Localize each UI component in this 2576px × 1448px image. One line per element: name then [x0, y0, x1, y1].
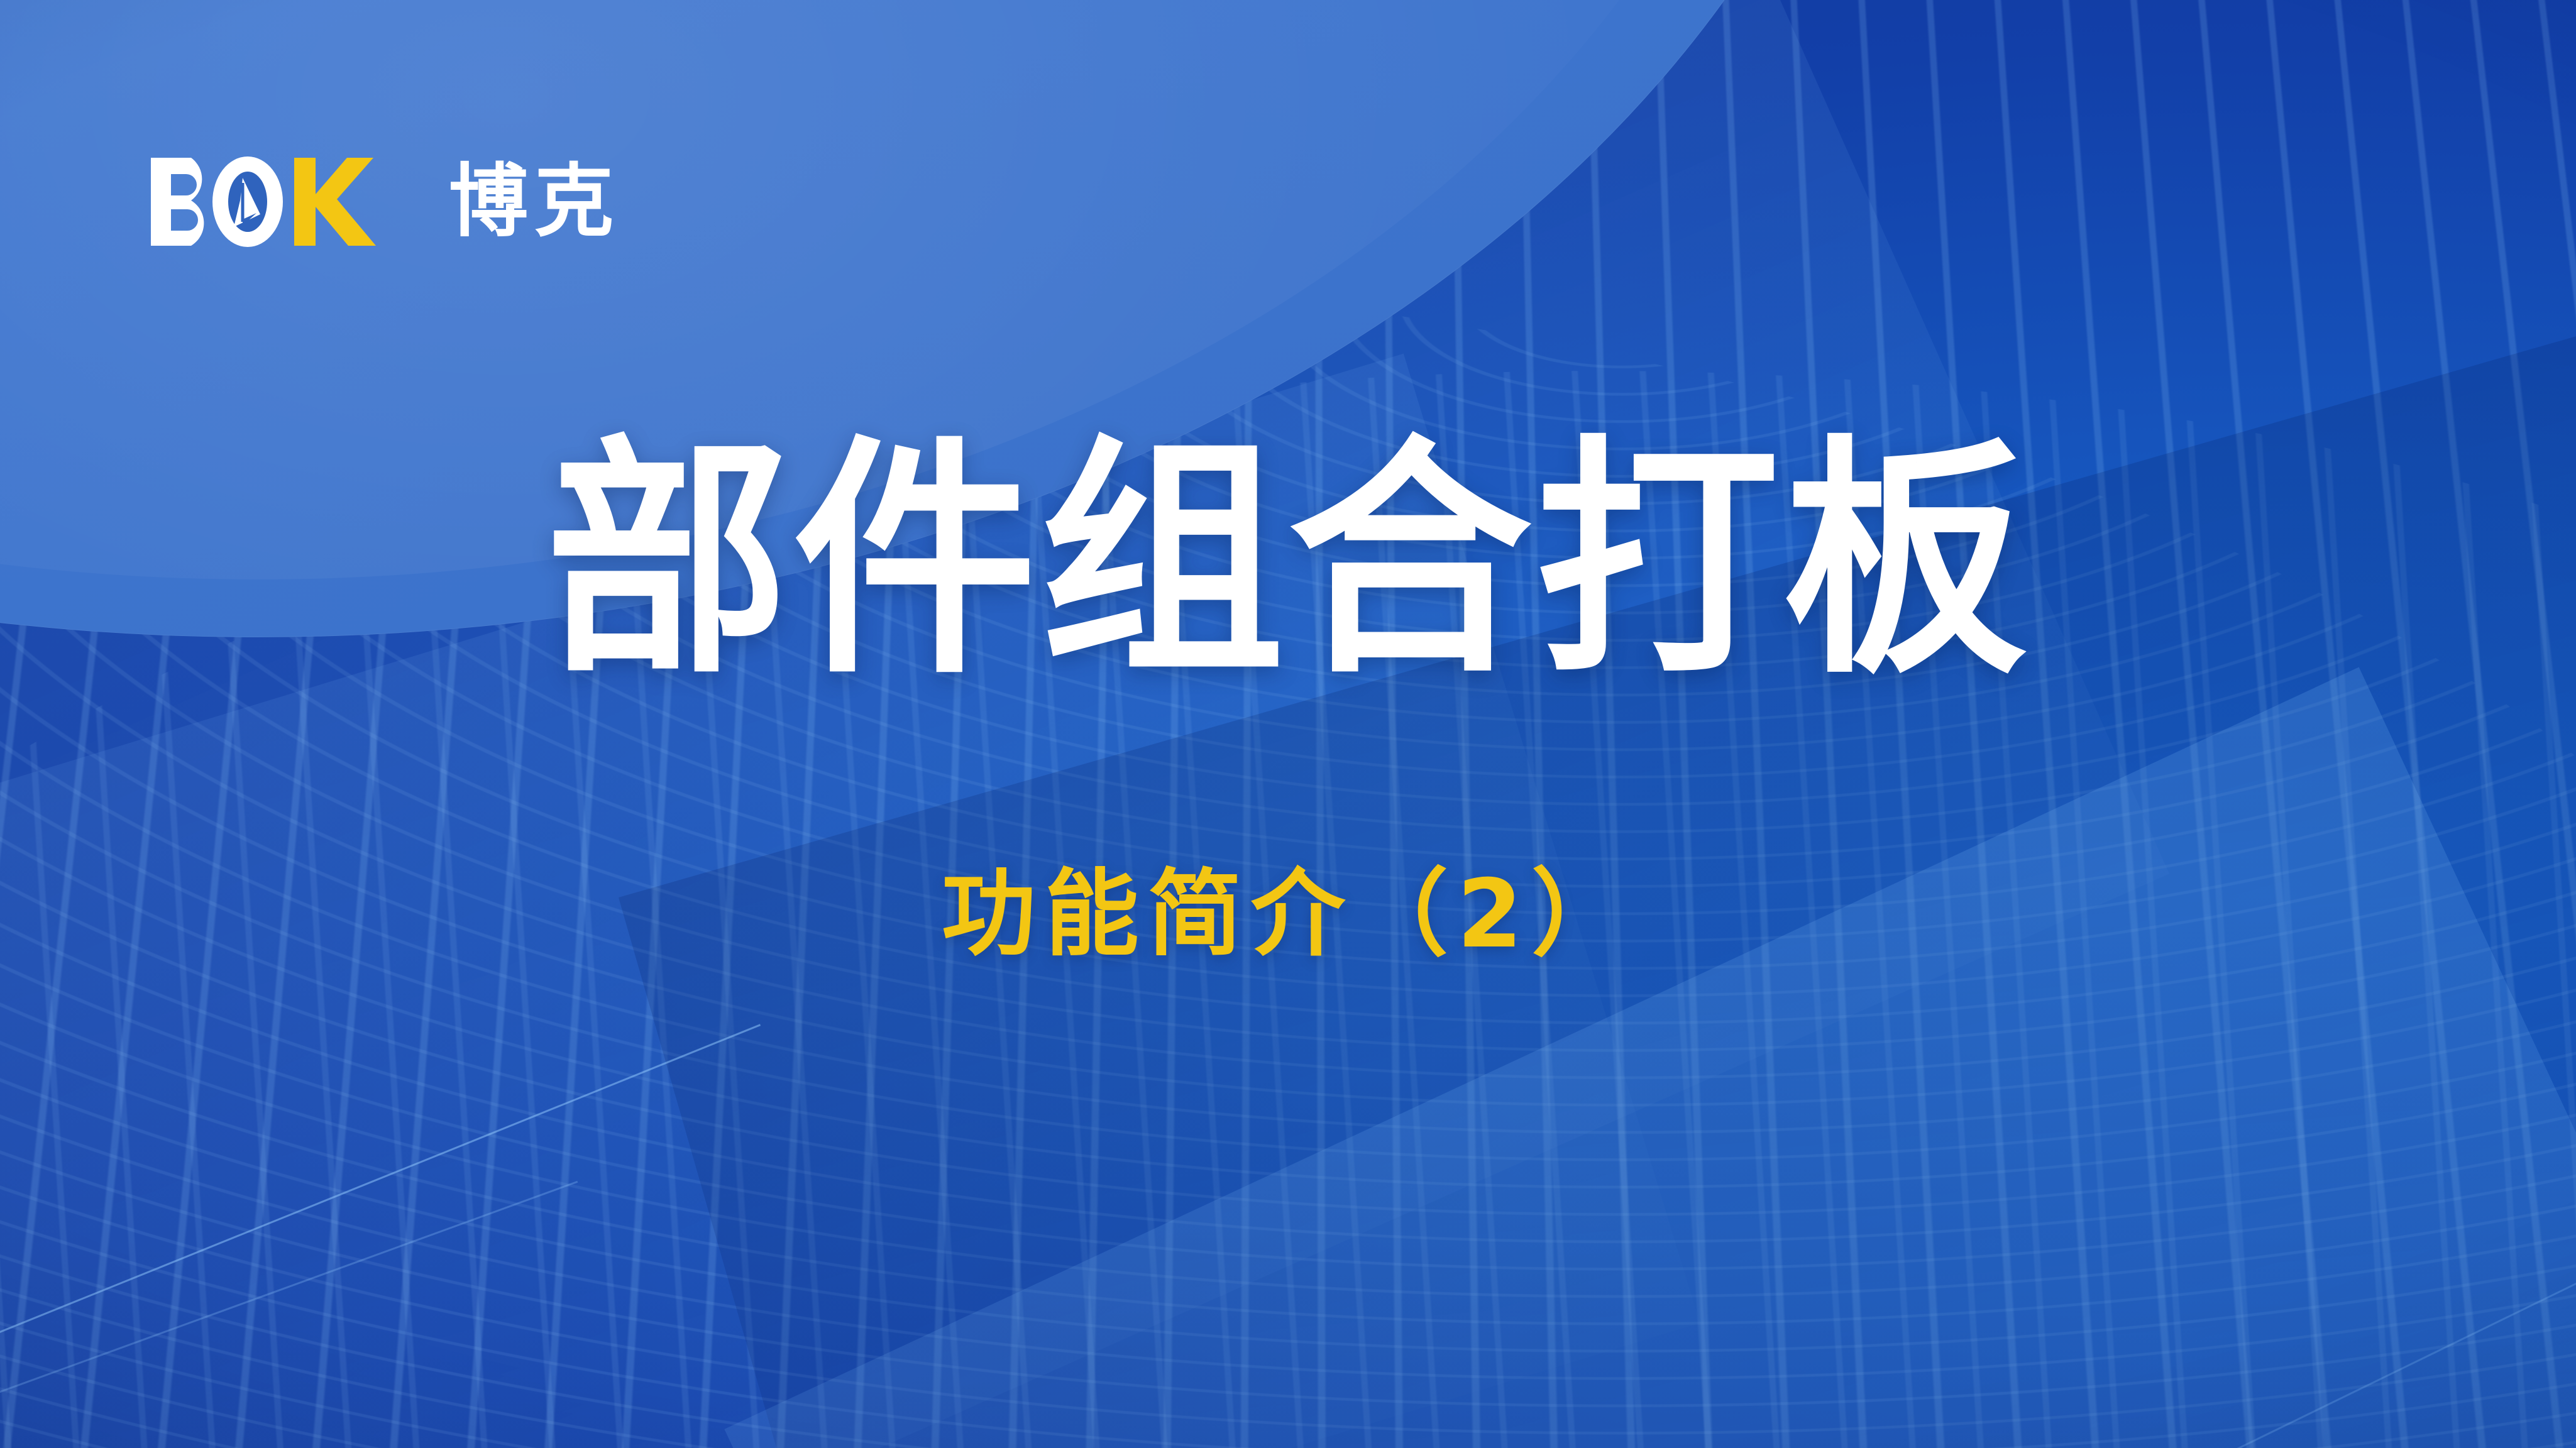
page-subtitle: 功能简介（2）: [0, 867, 2576, 962]
slide-canvas: 博克 部件组合打板 功能简介（2）: [0, 0, 2576, 1448]
page-title: 部件组合打板: [38, 434, 2537, 690]
logo-letter-k: [294, 158, 376, 246]
logo-letter-b: [151, 158, 204, 246]
brand-logo: 博克: [148, 148, 620, 255]
brand-logo-cn-name: 博克: [449, 162, 620, 241]
bok-wordmark-icon: [148, 155, 425, 249]
